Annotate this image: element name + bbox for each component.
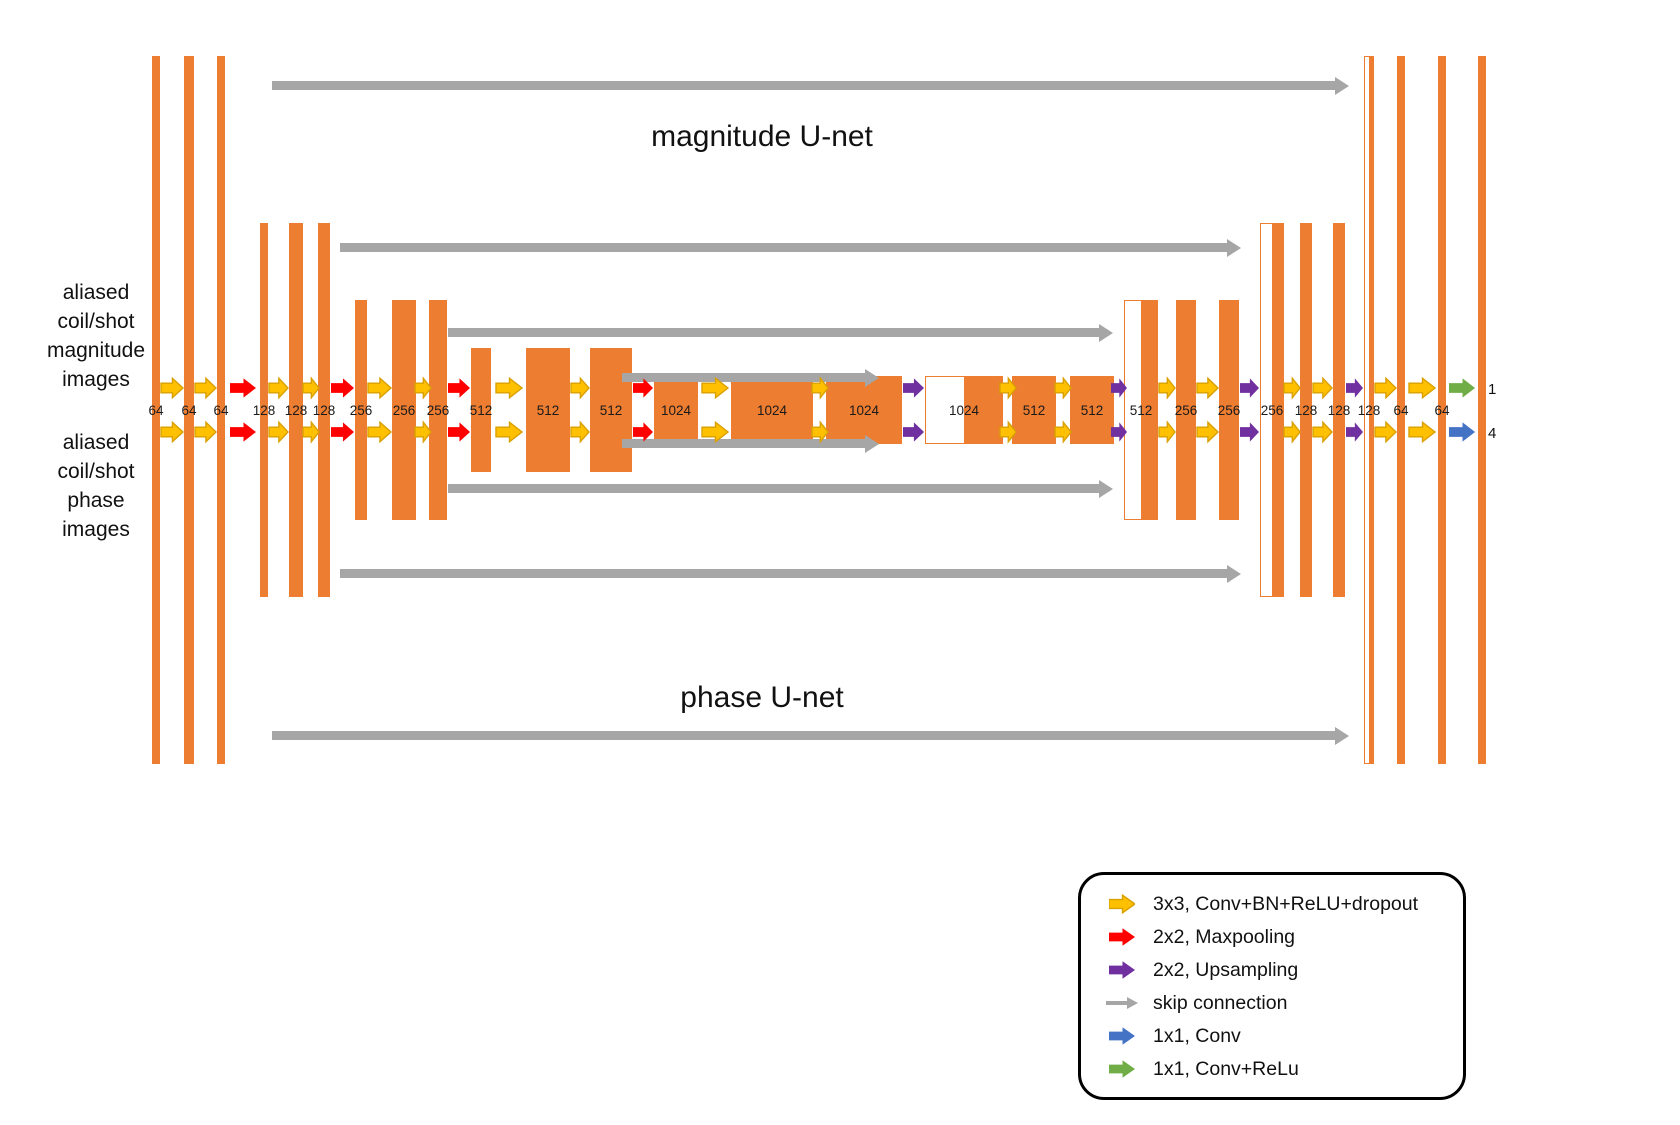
legend-row: 1x1, Conv+ReLu <box>1105 1056 1299 1082</box>
channel-count-label: 128 <box>285 403 308 418</box>
upsample-arrow-icon <box>903 377 924 399</box>
channel-count-label: 128 <box>1358 403 1381 418</box>
conv-arrow-icon <box>1197 377 1218 399</box>
legend-panel: 3x3, Conv+BN+ReLU+dropout 2x2, Maxpoolin… <box>1078 872 1466 1100</box>
skip-connection-line <box>622 373 866 382</box>
skip-connection-line <box>272 731 1336 740</box>
legend-label: 3x3, Conv+BN+ReLU+dropout <box>1153 893 1418 916</box>
unet-architecture-diagram: 6464641281281282562562565125125121024102… <box>0 0 1680 1125</box>
maxpool-arrow-icon <box>230 421 256 443</box>
input-label-line: phase <box>6 486 186 515</box>
conv-arrow-icon <box>812 421 828 443</box>
skip-connection-arrowhead <box>1227 565 1241 583</box>
conv-arrow-icon <box>415 377 431 399</box>
channel-count-label: 1024 <box>757 403 787 418</box>
legend-label: 1x1, Conv+ReLu <box>1153 1058 1299 1081</box>
conv-arrow-icon <box>1159 377 1175 399</box>
maxpool-arrow-icon <box>331 421 354 443</box>
conv-arrow-icon <box>812 377 828 399</box>
conv-arrow-icon <box>269 377 288 399</box>
conv-arrow-icon <box>1000 377 1016 399</box>
maxpool-arrow-icon <box>331 377 354 399</box>
title-phase-unet: phase U-net <box>680 681 843 715</box>
skip-connection-arrowhead <box>1099 480 1113 498</box>
channel-count-label: 64 <box>148 403 163 418</box>
channel-count-label: 64 <box>213 403 228 418</box>
channel-count-label: 512 <box>470 403 493 418</box>
channel-count-label: 128 <box>1328 403 1351 418</box>
legend-row: 2x2, Upsampling <box>1105 957 1298 983</box>
legend-label: skip connection <box>1153 992 1287 1015</box>
input-label-phase: aliasedcoil/shotphaseimages <box>6 428 186 544</box>
conv-arrow-icon <box>368 377 391 399</box>
skip-connection-line <box>448 328 1100 337</box>
legend-row: 3x3, Conv+BN+ReLU+dropout <box>1105 891 1418 917</box>
legend-label: 2x2, Upsampling <box>1153 959 1298 982</box>
conv-arrow-icon <box>1055 421 1071 443</box>
channel-count-label: 128 <box>1295 403 1318 418</box>
channel-count-label: 512 <box>1130 403 1153 418</box>
conv-arrow-icon <box>702 377 728 399</box>
conv1x1-relu-arrow-icon <box>1105 1057 1139 1081</box>
conv-arrow-icon <box>1284 421 1300 443</box>
channel-count-label: 256 <box>1261 403 1284 418</box>
conv1x1-arrow-icon <box>1449 421 1475 443</box>
conv-arrow-icon <box>571 377 589 399</box>
upsample-arrow-icon <box>1346 421 1363 443</box>
upsample-arrow-icon <box>1346 377 1363 399</box>
channel-count-label: 64 <box>181 403 196 418</box>
channel-count-label: 1024 <box>661 403 691 418</box>
input-label-line: coil/shot <box>6 457 186 486</box>
channel-count-label: 64 <box>1393 403 1408 418</box>
maxpool-arrow-icon <box>448 377 470 399</box>
input-label-line: images <box>6 365 186 394</box>
maxpool-arrow-icon <box>1105 925 1139 949</box>
channel-count-label: 64 <box>1434 403 1449 418</box>
conv-arrow-icon <box>1197 421 1218 443</box>
conv-arrow-icon <box>195 421 216 443</box>
channel-count-label: 256 <box>1218 403 1241 418</box>
legend-label: 1x1, Conv <box>1153 1025 1241 1048</box>
channel-count-label: 128 <box>253 403 276 418</box>
conv-arrow-icon <box>1000 421 1016 443</box>
conv-arrow-icon <box>1284 377 1300 399</box>
upsample-arrow-icon <box>1240 377 1259 399</box>
skip-connection-line <box>272 81 1336 90</box>
feature-block <box>1478 56 1486 764</box>
skip-connection-icon <box>1105 991 1139 1015</box>
upsample-arrow-icon <box>1111 421 1127 443</box>
maxpool-arrow-icon <box>448 421 470 443</box>
conv1x1-relu-arrow-icon <box>1449 377 1475 399</box>
channel-count-label: 256 <box>350 403 373 418</box>
conv-arrow-icon <box>195 377 216 399</box>
conv-arrow-icon <box>303 377 319 399</box>
channel-count-label: 512 <box>1023 403 1046 418</box>
conv-arrow-icon <box>1375 421 1396 443</box>
skip-connection-arrowhead <box>1227 239 1241 257</box>
legend-row: skip connection <box>1105 990 1287 1016</box>
skip-connection-line <box>340 243 1228 252</box>
title-magnitude-unet: magnitude U-net <box>651 120 873 154</box>
conv-arrow-icon <box>702 421 728 443</box>
skip-connection-arrowhead <box>1335 77 1349 95</box>
channel-count-label: 128 <box>313 403 336 418</box>
conv1x1-arrow-icon <box>1105 1024 1139 1048</box>
input-label-line: images <box>6 515 186 544</box>
maxpool-arrow-icon <box>633 421 653 443</box>
legend-row: 2x2, Maxpooling <box>1105 924 1295 950</box>
input-label-magnitude: aliasedcoil/shotmagnitudeimages <box>6 278 186 394</box>
conv-arrow-icon <box>1055 377 1071 399</box>
skip-connection-arrowhead <box>1335 727 1349 745</box>
conv-arrow-icon <box>496 377 522 399</box>
channel-count-label: 1024 <box>849 403 879 418</box>
conv-arrow-icon <box>1313 421 1332 443</box>
skip-connection-line <box>448 484 1100 493</box>
upsample-arrow-icon <box>903 421 924 443</box>
legend-label: 2x2, Maxpooling <box>1153 926 1295 949</box>
conv-arrow-icon <box>303 421 319 443</box>
upsample-arrow-icon <box>1105 958 1139 982</box>
upsample-arrow-icon <box>1111 377 1127 399</box>
channel-count-label: 512 <box>1081 403 1104 418</box>
input-label-line: aliased <box>6 278 186 307</box>
skip-connection-arrowhead <box>865 369 879 387</box>
skip-connection-line <box>340 569 1228 578</box>
conv-arrow-icon <box>1313 377 1332 399</box>
skip-connection-arrowhead <box>865 435 879 453</box>
maxpool-arrow-icon <box>230 377 256 399</box>
input-label-line: aliased <box>6 428 186 457</box>
output-label-phase: 4 <box>1488 425 1496 442</box>
channel-count-label: 256 <box>393 403 416 418</box>
channel-count-label: 256 <box>1175 403 1198 418</box>
output-label-magnitude: 1 <box>1488 381 1496 398</box>
channel-count-label: 512 <box>600 403 623 418</box>
legend-row: 1x1, Conv <box>1105 1023 1241 1049</box>
input-label-line: coil/shot <box>6 307 186 336</box>
channel-count-label: 1024 <box>949 403 979 418</box>
skip-connection-arrowhead <box>1099 324 1113 342</box>
conv-arrow-icon <box>1409 421 1435 443</box>
conv-arrow-icon <box>1375 377 1396 399</box>
conv-arrow-icon <box>415 421 431 443</box>
conv-arrow-icon <box>496 421 522 443</box>
conv-arrow-icon <box>368 421 391 443</box>
upsample-arrow-icon <box>1240 421 1259 443</box>
maxpool-arrow-icon <box>633 377 653 399</box>
conv-arrow-icon <box>269 421 288 443</box>
channel-count-label: 512 <box>537 403 560 418</box>
conv-arrow-icon <box>1105 892 1139 916</box>
conv-arrow-icon <box>1409 377 1435 399</box>
channel-count-label: 256 <box>427 403 450 418</box>
conv-arrow-icon <box>571 421 589 443</box>
skip-connection-line <box>622 439 866 448</box>
conv-arrow-icon <box>1159 421 1175 443</box>
input-label-line: magnitude <box>6 336 186 365</box>
